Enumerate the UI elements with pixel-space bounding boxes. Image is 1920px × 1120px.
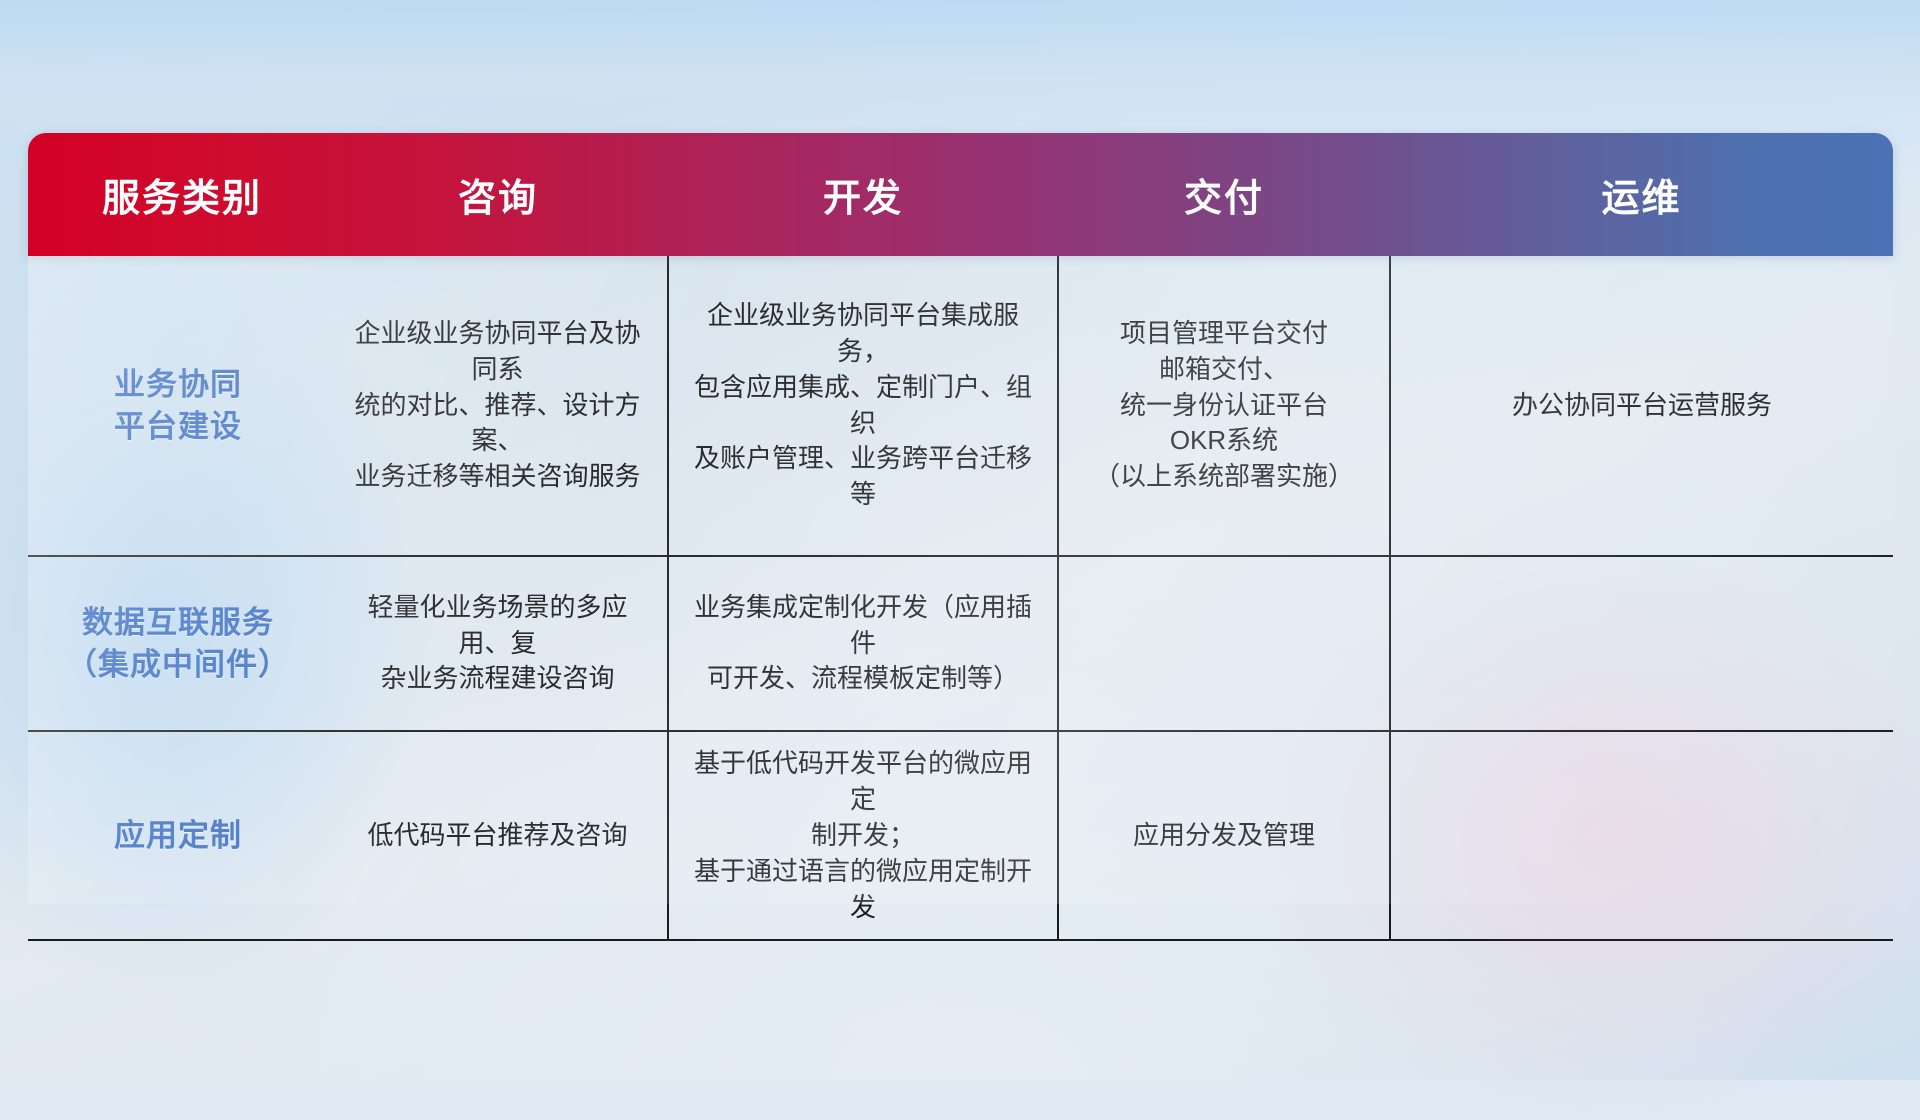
cell-text-line: 企业级业务协同平台集成服务，	[685, 298, 1041, 370]
cell-text-line: 平台建设	[44, 406, 312, 448]
cell-text-line: 可开发、流程模板定制等）	[685, 661, 1041, 697]
table-row: 数据互联服务（集成中间件） 轻量化业务场景的多应用、复杂业务流程建设咨询 业务集…	[28, 556, 1893, 731]
row-2-operations-cell	[1390, 556, 1893, 731]
cell-text-line: 统一身份认证平台	[1075, 388, 1373, 424]
cell-text-line: 杂业务流程建设咨询	[344, 661, 651, 697]
row-2-consulting-cell: 轻量化业务场景的多应用、复杂业务流程建设咨询	[328, 556, 668, 731]
row-3-consulting-cell: 低代码平台推荐及咨询	[328, 731, 668, 940]
header-cell-operations: 运维	[1390, 133, 1893, 256]
row-1-category-label: 业务协同平台建设	[28, 256, 328, 556]
slide-canvas: 服务类别 咨询 开发 交付 运维 业务协同平台建设 企业级业务协同平台及协同系统…	[0, 0, 1920, 1080]
row-1-operations-cell: 办公协同平台运营服务	[1390, 256, 1893, 556]
row-3-category-label: 应用定制	[28, 731, 328, 940]
row-3-delivery-cell: 应用分发及管理	[1058, 731, 1390, 940]
cell-text-line: 业务协同	[44, 364, 312, 406]
cell-text-line: 企业级业务协同平台及协同系	[344, 316, 651, 388]
cell-text-line: （集成中间件）	[44, 644, 312, 686]
row-1-development-cell: 企业级业务协同平台集成服务，包含应用集成、定制门户、组织及账户管理、业务跨平台迁…	[668, 256, 1058, 556]
table-row: 业务协同平台建设 企业级业务协同平台及协同系统的对比、推荐、设计方案、业务迁移等…	[28, 256, 1893, 556]
cell-text-line: 应用定制	[44, 815, 312, 857]
cell-text-line: 业务集成定制化开发（应用插件	[685, 590, 1041, 662]
header-cell-delivery: 交付	[1058, 133, 1390, 256]
row-1-consulting-cell: 企业级业务协同平台及协同系统的对比、推荐、设计方案、业务迁移等相关咨询服务	[328, 256, 668, 556]
cell-text-line: 办公协同平台运营服务	[1407, 388, 1877, 424]
header-cell-service-category: 服务类别	[28, 133, 328, 256]
row-2-development-cell: 业务集成定制化开发（应用插件可开发、流程模板定制等）	[668, 556, 1058, 731]
table-row: 应用定制 低代码平台推荐及咨询 基于低代码开发平台的微应用定制开发；基于通过语言…	[28, 731, 1893, 940]
cell-text-line: （以上系统部署实施）	[1075, 459, 1373, 495]
cell-text-line: 包含应用集成、定制门户、组织	[685, 370, 1041, 442]
header-cell-development: 开发	[668, 133, 1058, 256]
header-cell-consulting: 咨询	[328, 133, 668, 256]
row-3-development-cell: 基于低代码开发平台的微应用定制开发；基于通过语言的微应用定制开发	[668, 731, 1058, 940]
cell-text-line: OKR系统	[1075, 423, 1373, 459]
cell-text-line: 项目管理平台交付	[1075, 316, 1373, 352]
matrix-table: 服务类别 咨询 开发 交付 运维 业务协同平台建设 企业级业务协同平台及协同系统…	[28, 133, 1893, 941]
service-matrix-table: 服务类别 咨询 开发 交付 运维 业务协同平台建设 企业级业务协同平台及协同系统…	[28, 133, 1893, 953]
row-2-category-label: 数据互联服务（集成中间件）	[28, 556, 328, 731]
table-body: 业务协同平台建设 企业级业务协同平台及协同系统的对比、推荐、设计方案、业务迁移等…	[28, 256, 1893, 940]
cell-text-line: 及账户管理、业务跨平台迁移等	[685, 441, 1041, 513]
cell-text-line: 统的对比、推荐、设计方案、	[344, 388, 651, 460]
cell-text-line: 基于通过语言的微应用定制开发	[685, 854, 1041, 926]
cell-text-line: 制开发；	[685, 818, 1041, 854]
cell-text-line: 邮箱交付、	[1075, 352, 1373, 388]
table-header-row: 服务类别 咨询 开发 交付 运维	[28, 133, 1893, 256]
row-1-delivery-cell: 项目管理平台交付邮箱交付、统一身份认证平台OKR系统（以上系统部署实施）	[1058, 256, 1390, 556]
cell-text-line: 应用分发及管理	[1075, 818, 1373, 854]
cell-text-line: 数据互联服务	[44, 602, 312, 644]
cell-text-line: 低代码平台推荐及咨询	[344, 818, 651, 854]
cell-text-line: 基于低代码开发平台的微应用定	[685, 746, 1041, 818]
row-3-operations-cell	[1390, 731, 1893, 940]
row-2-delivery-cell	[1058, 556, 1390, 731]
cell-text-line: 业务迁移等相关咨询服务	[344, 459, 651, 495]
cell-text-line: 轻量化业务场景的多应用、复	[344, 590, 651, 662]
